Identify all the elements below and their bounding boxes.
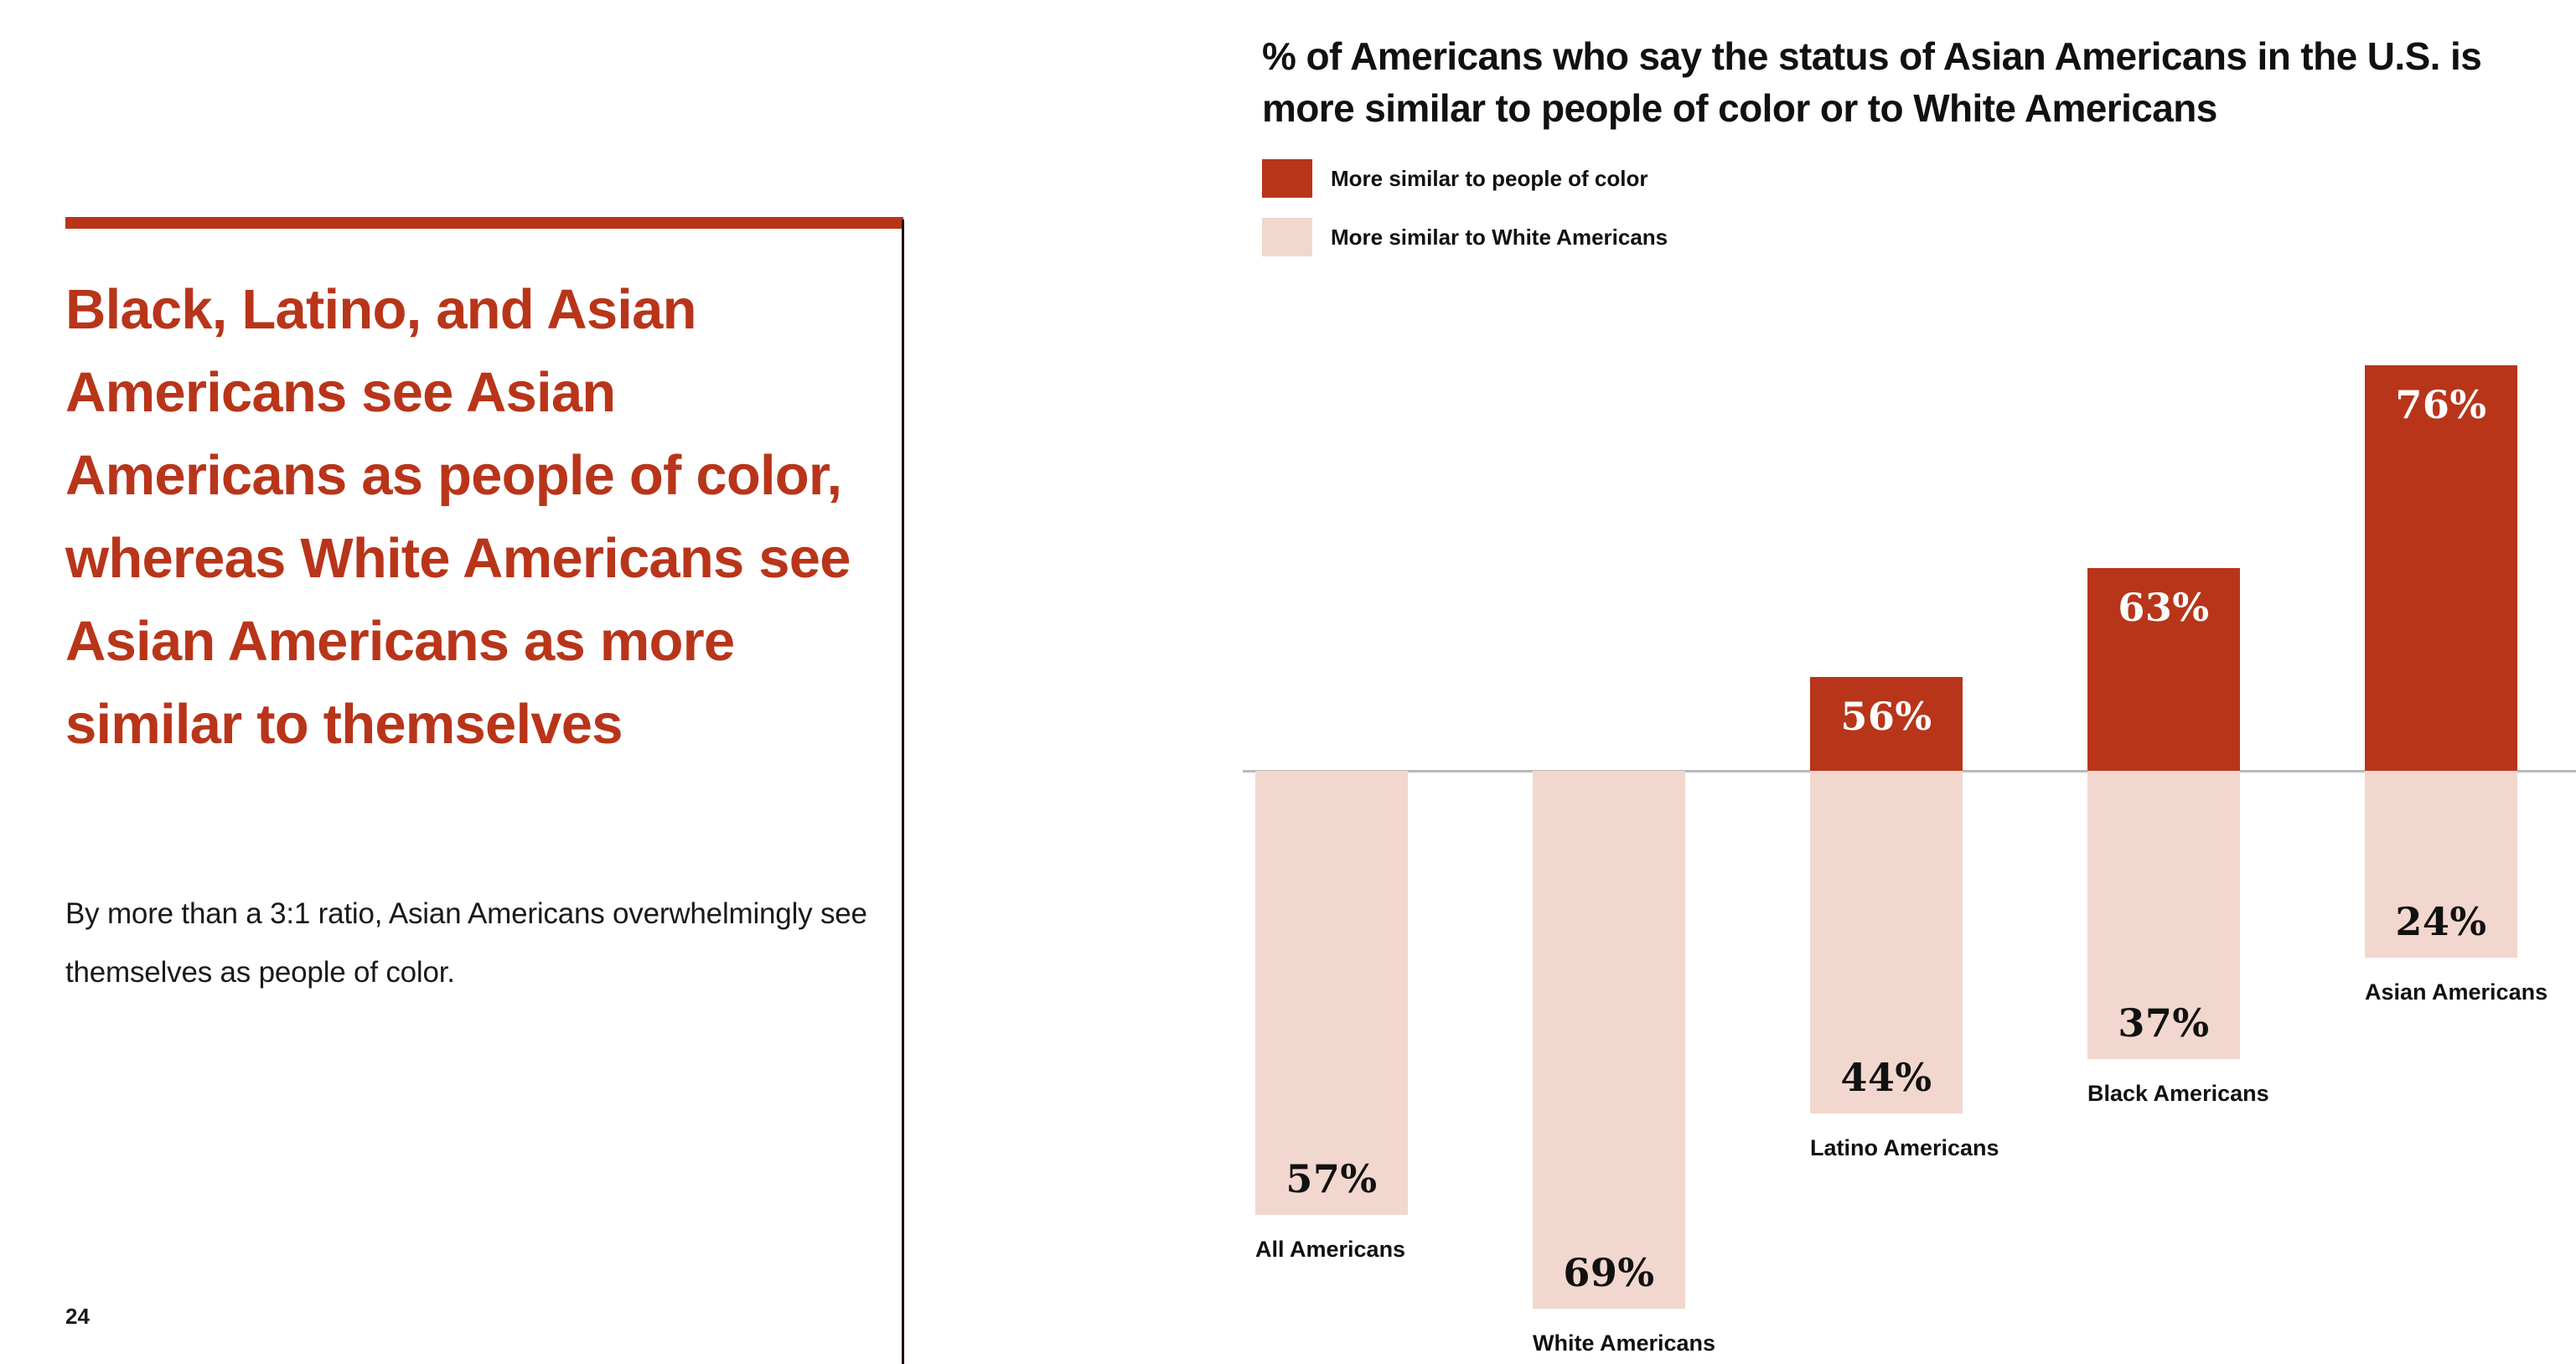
- page-title: Black, Latino, and Asian Americans see A…: [65, 268, 853, 766]
- bar-value-label-bottom: 37%: [2087, 1000, 2240, 1046]
- bar-value-label-bottom: 24%: [2365, 899, 2517, 944]
- bar-segment-white-americans: 44%: [1810, 771, 1963, 1113]
- left-panel: Black, Latino, and Asian Americans see A…: [0, 0, 903, 1364]
- category-label: Asian Americans: [2365, 979, 2576, 1005]
- bar-group: 56% 44% Latino Americans: [1810, 334, 1963, 1113]
- bar-segment-white-americans: 24%: [2365, 771, 2517, 958]
- category-label: Latino Americans: [1810, 1135, 2087, 1161]
- category-label: White Americans: [1533, 1330, 1809, 1356]
- bar-value-label-top: 63%: [2087, 585, 2240, 630]
- bar-value-label-bottom: 69%: [1533, 1250, 1685, 1295]
- bar-value-label-top: 76%: [2365, 382, 2517, 427]
- bar-segment-white-americans: 37%: [2087, 771, 2240, 1059]
- category-label: Black Americans: [2087, 1081, 2364, 1107]
- bar-value-label-top: 56%: [1810, 694, 1963, 739]
- page-subtitle: By more than a 3:1 ratio, Asian American…: [65, 885, 870, 1002]
- bar-group: 63% 37% Black Americans: [2087, 280, 2240, 1059]
- bar-value-label-bottom: 44%: [1810, 1055, 1963, 1100]
- bar-group: 76% 24% Asian Americans: [2365, 178, 2517, 958]
- bar-group: 31% 69% White Americans: [1533, 530, 1685, 1309]
- plot-area: 43% 57% All Americans 31% 69% White Amer…: [903, 0, 2576, 1364]
- category-label: All Americans: [1255, 1237, 1532, 1263]
- page-number: 24: [65, 1304, 90, 1330]
- bar-value-label-bottom: 57%: [1255, 1156, 1408, 1201]
- chart-panel: % of Americans who say the status of Asi…: [903, 0, 2576, 1364]
- headline-accent-rule: [65, 217, 903, 229]
- bar-segment-white-americans: 57%: [1255, 771, 1408, 1215]
- bar-segment-white-americans: 69%: [1533, 771, 1685, 1309]
- bar-group: 43% 57% All Americans: [1255, 436, 1408, 1215]
